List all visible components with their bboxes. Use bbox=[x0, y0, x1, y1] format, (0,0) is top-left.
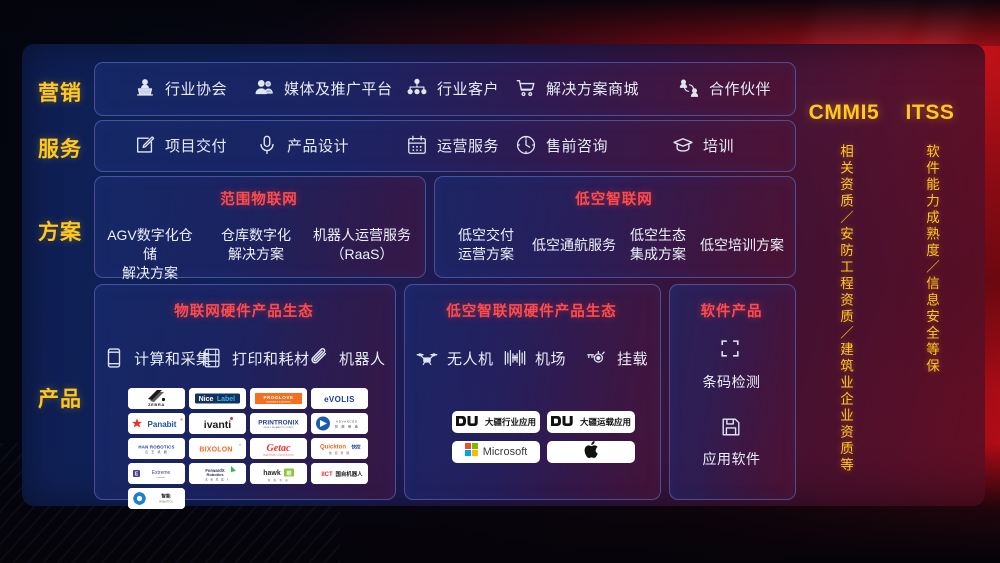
svg-text:ADVANCED: ADVANCED bbox=[336, 420, 358, 424]
partner-logo-extreme[interactable]: E Extreme networks bbox=[128, 463, 185, 484]
brand-label: Microsoft bbox=[483, 446, 528, 458]
solution-group-title-uav: 低空智联网 bbox=[434, 188, 794, 209]
product-feature-label: 挂载 bbox=[617, 348, 648, 369]
row-label-marketing: 营销 bbox=[38, 77, 82, 107]
partner-logo-proglove[interactable]: PROGLOVE WEARABLE SCANNERS bbox=[250, 388, 307, 409]
service-item-training[interactable]: 培训 bbox=[672, 134, 734, 156]
svg-text:Quickton: Quickton bbox=[320, 445, 346, 451]
row-label-service: 服务 bbox=[38, 133, 82, 163]
certification-column-itss: ITSS 软件能力成熟度／信息安全等保 bbox=[888, 44, 972, 506]
tablet-device-icon bbox=[103, 347, 125, 369]
marketing-item-label: 合作伙伴 bbox=[709, 78, 771, 99]
service-item-project-delivery[interactable]: 项目交付 bbox=[134, 134, 227, 156]
service-item-label: 培训 bbox=[703, 135, 734, 156]
solution-item[interactable]: 低空通航服务 bbox=[528, 236, 620, 255]
svg-text:BIXOLON: BIXOLON bbox=[199, 447, 232, 454]
dji-logo bbox=[551, 413, 575, 431]
marketing-item-solution-mall[interactable]: 解决方案商城 bbox=[515, 77, 639, 99]
partner-logo-zebra[interactable]: ZEBRA bbox=[128, 388, 185, 409]
solution-item[interactable]: 低空培训方案 bbox=[698, 236, 786, 255]
svg-text:ZEBRA: ZEBRA bbox=[148, 402, 165, 407]
product-feature-payload[interactable]: 挂载 bbox=[586, 347, 648, 369]
certification-title: CMMI5 bbox=[802, 101, 886, 125]
partner-logo-getac[interactable]: Getac Rugged Mobile Computing Solutions bbox=[250, 438, 307, 459]
svg-text:快 控 智 能: 快 控 智 能 bbox=[329, 450, 351, 455]
printer-icon bbox=[201, 347, 223, 369]
brand-label: 大疆运载应用 bbox=[580, 416, 631, 428]
svg-text:hawk: hawk bbox=[263, 470, 281, 477]
product-group-title-software: 软件产品 bbox=[669, 300, 794, 321]
people-group-icon bbox=[253, 77, 275, 99]
service-item-label: 运营服务 bbox=[437, 135, 499, 156]
partner-logo-panabit[interactable]: Panabit ® bbox=[128, 413, 185, 434]
airport-icon bbox=[504, 347, 526, 369]
brand-button-dji-delivery[interactable]: 大疆运载应用 bbox=[547, 411, 635, 433]
partner-logo-nicelabel[interactable]: Nice Label bbox=[189, 388, 246, 409]
marketing-item-label: 行业客户 bbox=[437, 78, 499, 99]
floppy-disk-icon bbox=[720, 416, 744, 440]
service-item-operations[interactable]: 运营服务 bbox=[406, 134, 499, 156]
svg-text:Getac: Getac bbox=[267, 443, 291, 454]
certification-vertical-text: 相关资质／安防工程资质／建筑业企业资质等 bbox=[834, 144, 854, 474]
handshake-partner-icon bbox=[678, 77, 700, 99]
certification-vertical-text: 软件能力成熟度／信息安全等保 bbox=[920, 144, 940, 375]
svg-text:Panabit: Panabit bbox=[148, 420, 177, 429]
product-group-title-uav: 低空智联网硬件产品生态 bbox=[404, 300, 659, 321]
solution-item[interactable]: 低空生态 集成方案 bbox=[624, 226, 692, 264]
svg-text:鹰 眼 智 能: 鹰 眼 智 能 bbox=[268, 478, 289, 482]
service-item-label: 项目交付 bbox=[165, 135, 227, 156]
paperclip-robot-icon bbox=[308, 347, 330, 369]
payload-mount-icon bbox=[586, 347, 608, 369]
product-feature-airport[interactable]: 机场 bbox=[504, 347, 566, 369]
svg-text:ROBOTICS: ROBOTICS bbox=[159, 500, 173, 504]
partner-logo-printronix[interactable]: PRINTRONIX WORLD RELIABILITY COUNTS bbox=[250, 413, 307, 434]
product-feature-label: 机器人 bbox=[339, 348, 386, 369]
partner-logo-iict[interactable]: IICT 国自机器人 bbox=[311, 463, 368, 484]
brand-button-apple[interactable] bbox=[547, 441, 635, 463]
svg-text:国自机器人: 国自机器人 bbox=[336, 470, 364, 478]
svg-text:WEARABLE SCANNERS: WEARABLE SCANNERS bbox=[266, 401, 291, 404]
product-feature-label: 计算和采集 bbox=[134, 348, 212, 369]
partner-logo-quickton[interactable]: Quickton 快控 快 控 智 能 bbox=[311, 438, 368, 459]
drone-icon bbox=[416, 347, 438, 369]
certification-title: ITSS bbox=[888, 101, 972, 125]
product-feature-print-consumables[interactable]: 打印和耗材 bbox=[201, 347, 310, 369]
shopping-cart-icon bbox=[515, 77, 537, 99]
svg-text:IICT: IICT bbox=[321, 472, 333, 478]
brand-button-microsoft[interactable]: Microsoft bbox=[452, 441, 540, 463]
barcode-scan-frame-icon bbox=[719, 337, 745, 363]
svg-text:Robotics: Robotics bbox=[206, 472, 224, 477]
svg-text:WORLD RELIABILITY COUNTS: WORLD RELIABILITY COUNTS bbox=[264, 426, 295, 429]
svg-text:®: ® bbox=[180, 417, 183, 422]
certification-column-cmmi5: CMMI5 相关资质／安防工程资质／建筑业企业资质等 bbox=[802, 44, 886, 506]
software-item-barcode-detection[interactable]: 条码检测 bbox=[669, 337, 794, 392]
svg-text:Nice: Nice bbox=[199, 396, 214, 403]
software-item-label: 条码检测 bbox=[703, 372, 761, 392]
svg-text:Rugged Mobile Computing Soluti: Rugged Mobile Computing Solutions bbox=[263, 454, 294, 457]
svg-text:eVOLIS: eVOLIS bbox=[324, 395, 355, 404]
marketing-item-industry-association[interactable]: 行业协会 bbox=[134, 77, 227, 99]
marketing-item-label: 媒体及推广平台 bbox=[284, 78, 393, 99]
slide-canvas: 营销 服务 方案 产品 行业协会 媒体及推广平台 bbox=[0, 0, 1000, 563]
product-feature-label: 打印和耗材 bbox=[232, 348, 310, 369]
clock-icon bbox=[515, 134, 537, 156]
solution-item[interactable]: 低空交付 运营方案 bbox=[448, 226, 524, 264]
org-network-icon bbox=[406, 77, 428, 99]
marketing-item-partners[interactable]: 合作伙伴 bbox=[678, 77, 771, 99]
partner-logo-forwardx[interactable]: ForwardX Robotics 未 来 机 器 人 bbox=[189, 463, 246, 484]
product-feature-robot[interactable]: 机器人 bbox=[308, 347, 386, 369]
svg-text:HAN ROBOTICS: HAN ROBOTICS bbox=[138, 445, 174, 450]
pencil-note-icon bbox=[134, 134, 156, 156]
dji-logo bbox=[456, 413, 480, 431]
service-item-label: 售前咨询 bbox=[546, 135, 608, 156]
partner-logo-hanrobotics[interactable]: HAN ROBOTICS 汉 王 机 器 bbox=[128, 438, 185, 459]
solution-item[interactable]: AGV数字化仓储 解决方案 bbox=[104, 226, 196, 283]
software-item-application-software[interactable]: 应用软件 bbox=[669, 416, 794, 469]
svg-text:智 能 制 造: 智 能 制 造 bbox=[335, 424, 359, 429]
background-top-shade bbox=[0, 0, 1000, 46]
podium-speaker-icon bbox=[134, 77, 156, 99]
svg-text:未 来 机 器 人: 未 来 机 器 人 bbox=[205, 478, 230, 482]
marketing-item-label: 解决方案商城 bbox=[546, 78, 639, 99]
partner-logo-hawk[interactable]: hawk 眼 鹰 眼 智 能 bbox=[250, 463, 307, 484]
solution-item[interactable]: 机器人运营服务 （RaaS） bbox=[310, 226, 414, 264]
svg-text:快控: 快控 bbox=[352, 444, 361, 451]
software-item-label: 应用软件 bbox=[703, 449, 761, 469]
partner-logo-ivanti[interactable]: ivanti bbox=[189, 413, 246, 434]
product-feature-compute-capture[interactable]: 计算和采集 bbox=[103, 347, 212, 369]
microsoft-logo bbox=[465, 443, 478, 461]
microphone-icon bbox=[256, 134, 278, 156]
marketing-item-label: 行业协会 bbox=[165, 78, 227, 99]
apple-logo bbox=[584, 441, 599, 463]
solution-group-title-iot: 范围物联网 bbox=[94, 188, 424, 209]
partner-logo-evolis[interactable]: eVOLIS bbox=[311, 388, 368, 409]
service-item-label: 产品设计 bbox=[287, 135, 349, 156]
calendar-icon bbox=[406, 134, 428, 156]
product-feature-label: 无人机 bbox=[447, 348, 494, 369]
marketing-item-media-platform[interactable]: 媒体及推广平台 bbox=[253, 77, 393, 99]
solution-item[interactable]: 仓库数字化 解决方案 bbox=[212, 226, 300, 264]
marketing-item-industry-customers[interactable]: 行业客户 bbox=[406, 77, 499, 99]
svg-text:汉 王 机 器: 汉 王 机 器 bbox=[145, 449, 168, 454]
brand-button-dji-industry[interactable]: 大疆行业应用 bbox=[452, 411, 540, 433]
svg-text:PRINTRONIX: PRINTRONIX bbox=[258, 420, 299, 427]
product-group-title-iot: 物联网硬件产品生态 bbox=[94, 300, 394, 321]
product-feature-drone[interactable]: 无人机 bbox=[416, 347, 494, 369]
svg-text:智能: 智能 bbox=[161, 493, 171, 500]
product-feature-label: 机场 bbox=[535, 348, 566, 369]
service-item-presales[interactable]: 售前咨询 bbox=[515, 134, 608, 156]
brand-label: 大疆行业应用 bbox=[485, 416, 536, 428]
svg-text:Extreme: Extreme bbox=[152, 470, 171, 476]
svg-text:Label: Label bbox=[217, 396, 235, 403]
svg-text:PROGLOVE: PROGLOVE bbox=[263, 395, 293, 400]
svg-text:networks: networks bbox=[157, 476, 167, 479]
row-label-products: 产品 bbox=[38, 383, 82, 413]
partner-logo-gs[interactable]: ADVANCED 智 能 制 造 bbox=[311, 413, 368, 434]
svg-text:眼: 眼 bbox=[286, 470, 291, 477]
graduation-cap-icon bbox=[672, 134, 694, 156]
partner-logo-bixolon[interactable]: BIXOLON ® bbox=[189, 438, 246, 459]
service-item-product-design[interactable]: 产品设计 bbox=[256, 134, 349, 156]
row-label-solutions: 方案 bbox=[38, 216, 82, 246]
partner-logo-zhineng[interactable]: 智能 ROBOTICS bbox=[128, 488, 185, 509]
svg-text:ivanti: ivanti bbox=[204, 419, 232, 431]
